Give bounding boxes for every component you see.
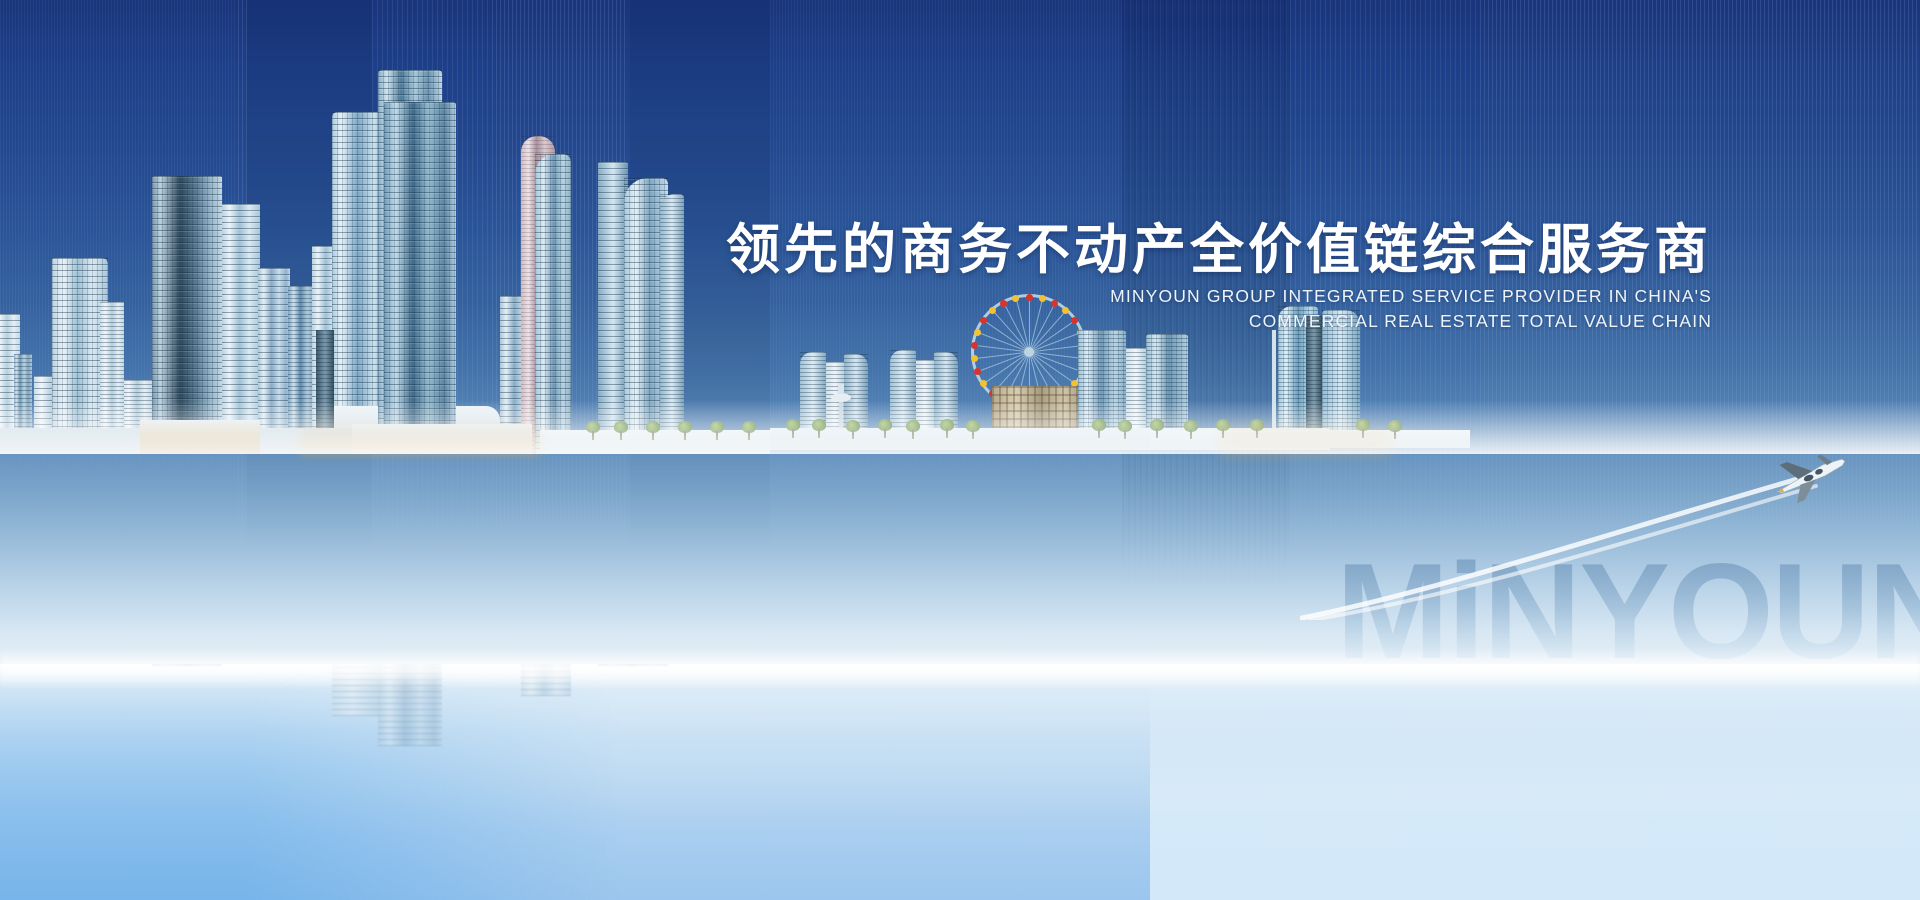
ferris-cabin <box>974 368 981 375</box>
page-title: 领先的商务不动产全价值链综合服务商 <box>0 205 1712 284</box>
brand-watermark: MiNYOUN <box>1336 543 1920 679</box>
airplane-icon <box>1768 448 1854 504</box>
skyline-reflection <box>0 664 1920 900</box>
ferris-cabin <box>980 380 987 387</box>
ferris-hub <box>1024 347 1034 357</box>
ferris-cabin <box>971 342 978 349</box>
subtitle-line-2: COMMERCIAL REAL ESTATE TOTAL VALUE CHAIN <box>0 311 1712 332</box>
subtitle-line-1: MINYOUN GROUP INTEGRATED SERVICE PROVIDE… <box>0 286 1712 307</box>
ferris-cabin <box>971 355 978 362</box>
banner-stage: MiNYOUN 领先的商务不动产全价值链综合服务商 MINYOUN GROUP … <box>0 0 1920 900</box>
